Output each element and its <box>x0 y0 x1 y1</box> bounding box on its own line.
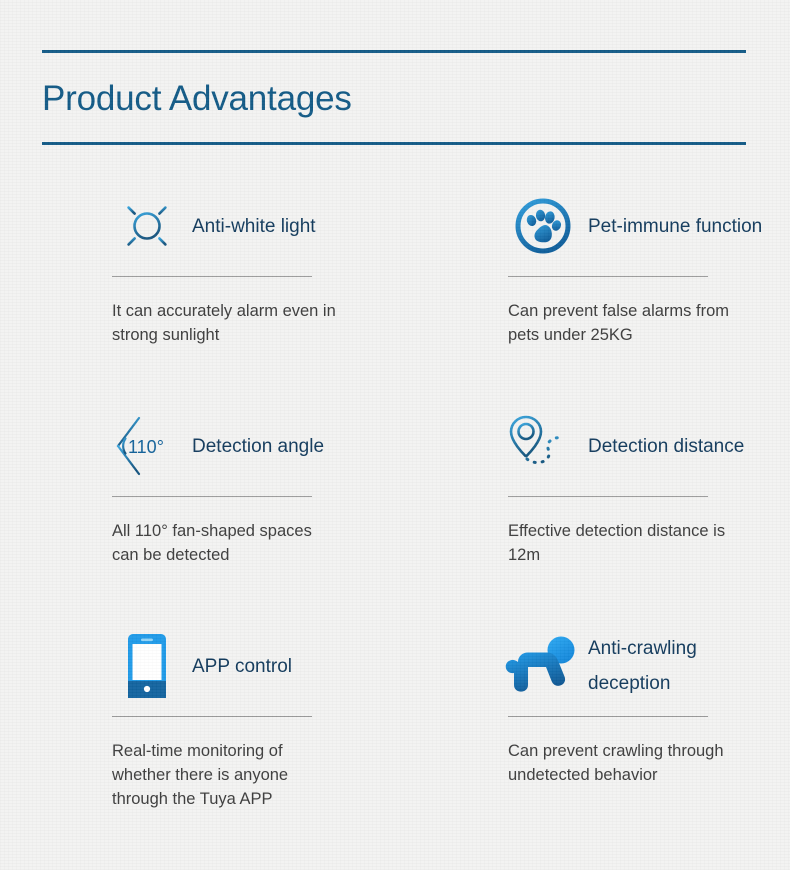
feature-description: Can prevent false alarms from pets under… <box>508 299 738 347</box>
feature-header: Anti-crawling deception <box>508 620 790 712</box>
feature-title: Pet-immune function <box>588 209 762 244</box>
feature-description: Can prevent crawling through undetected … <box>508 739 738 787</box>
feature-row: APP control Real-time monitoring of whet… <box>0 620 790 850</box>
feature-divider <box>508 276 708 277</box>
feature-pet-immune: Pet-immune function Can prevent false al… <box>34 180 790 400</box>
page-header: Product Advantages <box>42 50 746 145</box>
feature-header: Pet-immune function <box>508 180 790 272</box>
feature-description: Effective detection distance is 12m <box>508 519 738 567</box>
feature-grid: Anti-white light It can accurately alarm… <box>0 180 790 850</box>
feature-row: Anti-white light It can accurately alarm… <box>0 180 790 400</box>
feature-divider <box>508 496 708 497</box>
map-pin-distance-icon <box>508 411 578 481</box>
feature-anti-crawling: Anti-crawling deception Can prevent craw… <box>34 620 790 850</box>
feature-title: Anti-crawling deception <box>588 631 778 701</box>
page-title: Product Advantages <box>42 53 746 142</box>
feature-divider <box>508 716 708 717</box>
feature-detection-distance: Detection distance Effective detection d… <box>34 400 790 620</box>
feature-row: 110° Detection angle All 110° fan-shaped… <box>0 400 790 620</box>
feature-title: Detection distance <box>588 429 744 464</box>
crawling-person-icon <box>508 631 578 701</box>
feature-header: Detection distance <box>508 400 790 492</box>
paw-print-icon <box>508 191 578 261</box>
header-bottom-rule <box>42 142 746 145</box>
